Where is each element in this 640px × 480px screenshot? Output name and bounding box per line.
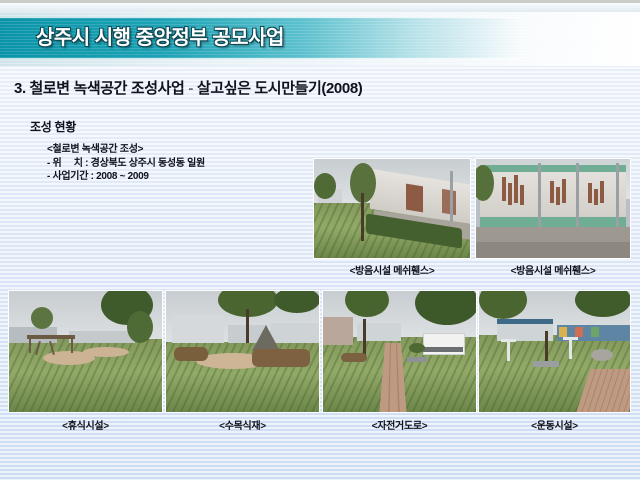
photo-pergola-post	[71, 337, 73, 353]
photo-barrier-bar	[520, 185, 524, 205]
photo-tree	[31, 307, 53, 329]
photo-caption: <운동시설>	[478, 417, 631, 432]
photo-post	[576, 163, 579, 229]
photo-mural-detail	[575, 327, 583, 337]
photo-bicycle-path	[322, 290, 477, 413]
photo-barrier-bar	[600, 181, 604, 203]
photo-tree-trunk	[246, 309, 249, 343]
photo-shrub-bed	[174, 347, 208, 361]
photo-exercise-facility	[478, 290, 631, 413]
photo-barrier-green-band	[480, 217, 626, 227]
photo-caption: <방음시설 메쉬휀스>	[313, 262, 471, 277]
photo-barrier-bar	[588, 183, 592, 203]
subsection-heading: 조성 현황	[30, 118, 76, 135]
photo-tree-planting	[165, 290, 320, 413]
photo-exercise-equipment	[501, 339, 516, 342]
photo-pergola-post	[29, 337, 31, 353]
photo-shrub-bed	[252, 349, 310, 367]
photo-pergola-beam	[27, 335, 75, 339]
photo-mural-detail	[591, 327, 599, 337]
photo-post	[616, 163, 619, 229]
photo-bench	[533, 361, 559, 367]
section-heading-main: 3. 철로변 녹색공간 조성사업	[14, 80, 184, 97]
photo-barrier-panel	[442, 189, 456, 215]
photo-ground	[476, 242, 631, 258]
photo-post	[538, 163, 541, 229]
photo-building	[323, 317, 353, 345]
header-top-glow	[0, 6, 640, 12]
photo-path	[83, 347, 129, 357]
photo-barrier-panel	[406, 184, 423, 213]
photo-building	[172, 315, 224, 343]
section-heading: 3. 철로변 녹색공간 조성사업-살고싶은 도시만들기(2008)	[14, 77, 362, 98]
photo-barrier-bar	[556, 187, 560, 205]
photo-barrier-bar	[550, 181, 554, 203]
photo-building	[69, 331, 135, 343]
photo-tree	[314, 173, 336, 199]
photo-caption: <자전거도로>	[322, 417, 477, 432]
photo-noise-barrier-1	[313, 158, 471, 259]
photo-bench	[407, 357, 427, 362]
section-heading-dash: -	[184, 80, 197, 97]
photo-barrier-bar	[514, 175, 518, 203]
photo-shrub	[341, 353, 367, 362]
photo-caption: <휴식시설>	[8, 417, 163, 432]
photo-caption: <방음시설 메쉬휀스>	[475, 262, 631, 277]
photo-exercise-equipment	[507, 339, 510, 361]
page-title: 상주시 시행 중앙정부 공모사업	[36, 21, 284, 50]
photo-mural-detail	[559, 327, 567, 337]
photo-barrier-bar	[594, 189, 598, 205]
photo-exercise-equipment	[569, 337, 572, 359]
photo-truck-wheels	[423, 347, 463, 352]
photo-noise-barrier-2	[475, 158, 631, 259]
photo-post	[450, 171, 453, 227]
photo-barrier-bar	[562, 179, 566, 203]
photo-barrier-bar	[508, 183, 512, 205]
photo-building-roof	[497, 319, 553, 324]
photo-tree-trunk	[361, 193, 364, 241]
photo-caption: <수목식재>	[165, 417, 320, 432]
photo-rest-area	[8, 290, 163, 413]
presentation-slide: 상주시 시행 중앙정부 공모사업 3. 철로변 녹색공간 조성사업-살고싶은 도…	[0, 0, 640, 480]
photo-barrier-green-band	[480, 165, 626, 172]
photo-barrier-bar	[502, 177, 506, 201]
photo-exercise-equipment	[563, 337, 578, 340]
photo-building	[270, 323, 320, 343]
photo-shrub	[409, 343, 425, 353]
photo-tree-trunk	[545, 331, 548, 365]
photo-post	[470, 173, 471, 225]
photo-rock	[591, 349, 613, 361]
project-detail-text: <철로변 녹색공간 조성> - 위 치 : 경상북도 상주시 동성동 일원 - …	[47, 143, 205, 184]
section-heading-subtitle: 살고싶은 도시만들기(2008)	[197, 80, 362, 97]
photo-tree	[127, 311, 153, 343]
